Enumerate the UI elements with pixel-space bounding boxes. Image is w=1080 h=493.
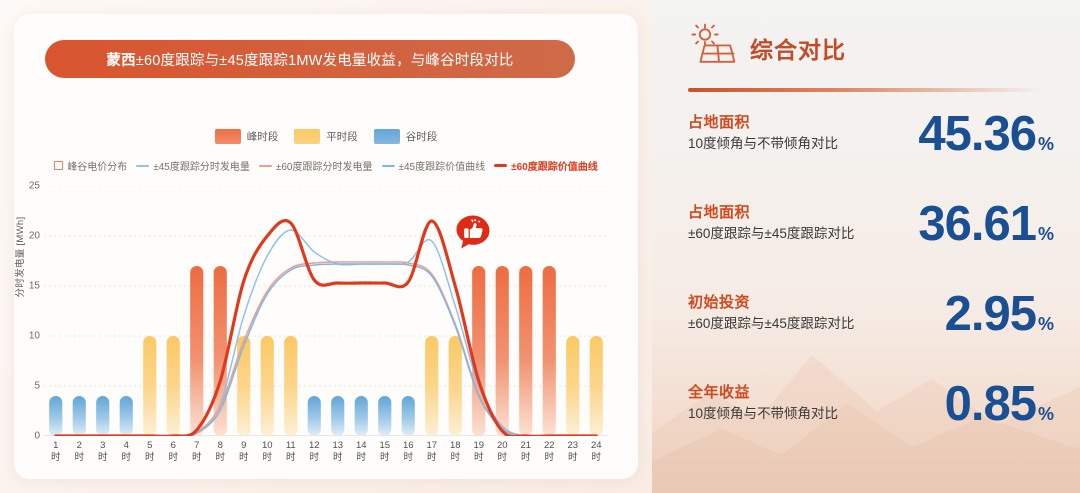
stat-title: 初始投资 xyxy=(688,293,864,313)
series-legend-label: ±60度跟踪分时发电量 xyxy=(276,158,373,173)
x-axis-tick-unit: 时 xyxy=(232,452,256,464)
x-axis-tick: 7时 xyxy=(185,440,209,480)
summary-header: 综合对比 xyxy=(688,22,846,73)
period-legend-item[interactable]: 平时段 xyxy=(294,129,358,144)
stat-text: 初始投资±60度跟踪与±45度跟踪对比 xyxy=(688,288,864,333)
x-axis-tick-unit: 时 xyxy=(373,452,397,464)
thumbs-up-badge-icon xyxy=(452,212,494,254)
series-legend-item[interactable]: ±45度跟踪分时发电量 xyxy=(136,158,250,173)
x-axis-tick: 9时 xyxy=(232,440,256,480)
bar-group xyxy=(49,266,603,436)
x-axis-tick-unit: 时 xyxy=(115,452,139,464)
stat-title: 占地面积 xyxy=(688,203,864,223)
x-axis-tick: 5时 xyxy=(138,440,162,480)
x-axis-tick: 17时 xyxy=(420,440,444,480)
x-axis-tick-number: 10 xyxy=(256,440,280,452)
chart-svg xyxy=(44,186,608,436)
x-axis-tick-unit: 时 xyxy=(303,452,327,464)
x-axis-tick-number: 11 xyxy=(279,440,303,452)
x-axis-tick: 24时 xyxy=(585,440,609,480)
chart-bar[interactable] xyxy=(331,396,344,436)
line-series[interactable] xyxy=(56,262,597,436)
chart-bar[interactable] xyxy=(566,336,579,436)
stat-subtitle: 10度倾角与不带倾角对比 xyxy=(688,404,864,423)
period-legend: 峰时段平时段谷时段 xyxy=(0,129,652,144)
stats-list: 占地面积10度倾角与不带倾角对比45.36%占地面积±60度跟踪与±45度跟踪对… xyxy=(688,108,1058,468)
x-axis-tick-unit: 时 xyxy=(444,452,468,464)
chart-bar[interactable] xyxy=(284,336,297,436)
period-legend-label: 平时段 xyxy=(326,129,358,144)
stat-title: 占地面积 xyxy=(688,113,864,133)
x-axis-tick: 22时 xyxy=(538,440,562,480)
stat-number: 36.61 xyxy=(918,198,1036,250)
chart-panel: 蒙西±60度跟踪与±45度跟踪1MW发电量收益，与峰谷时段对比 峰时段平时段谷时… xyxy=(0,0,652,493)
period-legend-label: 峰时段 xyxy=(247,129,279,144)
stat-value: 2.95% xyxy=(864,288,1058,340)
x-axis-tick-number: 5 xyxy=(138,440,162,452)
chart-bar[interactable] xyxy=(49,396,62,436)
chart-bar[interactable] xyxy=(402,396,415,436)
chart-bar[interactable] xyxy=(519,266,532,436)
series-legend-line-marker xyxy=(382,165,395,167)
x-axis-tick: 1时 xyxy=(44,440,68,480)
x-axis-tick-number: 13 xyxy=(326,440,350,452)
x-axis-tick-unit: 时 xyxy=(514,452,538,464)
stat-subtitle: ±60度跟踪与±45度跟踪对比 xyxy=(688,224,864,243)
stat-number: 2.95 xyxy=(945,288,1036,340)
x-axis-tick: 3时 xyxy=(91,440,115,480)
y-axis-tick: 25 xyxy=(18,181,40,192)
chart-bar[interactable] xyxy=(190,266,203,436)
x-axis-tick: 23时 xyxy=(561,440,585,480)
x-axis-tick: 19时 xyxy=(467,440,491,480)
x-axis-tick-number: 21 xyxy=(514,440,538,452)
x-axis-tick-unit: 时 xyxy=(585,452,609,464)
x-axis-tick-unit: 时 xyxy=(538,452,562,464)
y-axis-tick: 5 xyxy=(18,381,40,392)
x-axis-tick-number: 17 xyxy=(420,440,444,452)
x-axis-tick-unit: 时 xyxy=(561,452,585,464)
series-legend-line-marker xyxy=(136,165,149,167)
chart-bar[interactable] xyxy=(237,336,250,436)
x-axis-tick: 20时 xyxy=(491,440,515,480)
chart-bar[interactable] xyxy=(543,266,556,436)
chart-bar[interactable] xyxy=(472,266,485,436)
chart-title-rest: ±60度跟踪与±45度跟踪1MW发电量收益，与峰谷时段对比 xyxy=(136,49,514,70)
stat-unit: % xyxy=(1038,404,1054,425)
x-axis-tick-unit: 时 xyxy=(350,452,374,464)
chart-bar[interactable] xyxy=(261,336,274,436)
x-axis-tick-number: 4 xyxy=(115,440,139,452)
x-axis-tick-unit: 时 xyxy=(279,452,303,464)
x-axis-tick-number: 3 xyxy=(91,440,115,452)
x-axis-tick: 11时 xyxy=(279,440,303,480)
chart-bar[interactable] xyxy=(378,396,391,436)
stat-title: 全年收益 xyxy=(688,383,864,403)
header-divider xyxy=(688,88,1043,92)
stat-row: 全年收益10度倾角与不带倾角对比0.85% xyxy=(688,378,1058,468)
x-axis-tick-number: 12 xyxy=(303,440,327,452)
stat-number: 0.85 xyxy=(945,378,1036,430)
period-legend-item[interactable]: 谷时段 xyxy=(374,129,438,144)
stat-text: 占地面积10度倾角与不带倾角对比 xyxy=(688,108,864,153)
y-axis-tick: 10 xyxy=(18,331,40,342)
stat-text: 占地面积±60度跟踪与±45度跟踪对比 xyxy=(688,198,864,243)
y-axis-title: 分时发电量 [MWh] xyxy=(12,192,26,322)
x-axis-tick-unit: 时 xyxy=(326,452,350,464)
stat-number: 45.36 xyxy=(918,108,1036,160)
x-axis-tick-unit: 时 xyxy=(256,452,280,464)
series-legend-label: ±45度跟踪分时发电量 xyxy=(153,158,250,173)
x-axis-tick: 13时 xyxy=(326,440,350,480)
x-axis-tick-labels: 1时2时3时4时5时6时7时8时9时10时11时12时13时14时15时16时1… xyxy=(44,440,608,480)
x-axis-tick-unit: 时 xyxy=(44,452,68,464)
x-axis-tick: 12时 xyxy=(303,440,327,480)
stat-value: 36.61% xyxy=(864,198,1058,250)
x-axis-tick: 8时 xyxy=(209,440,233,480)
series-legend-line-marker xyxy=(259,165,272,167)
series-legend-label: ±60度跟踪价值曲线 xyxy=(511,158,598,173)
summary-title: 综合对比 xyxy=(750,31,846,65)
period-legend-swatch xyxy=(294,129,320,144)
x-axis-tick: 14时 xyxy=(350,440,374,480)
x-axis-tick-unit: 时 xyxy=(397,452,421,464)
chart-bar[interactable] xyxy=(120,396,133,436)
stat-unit: % xyxy=(1038,224,1054,245)
y-axis-tick: 0 xyxy=(18,431,40,442)
x-axis-tick: 6时 xyxy=(162,440,186,480)
period-legend-swatch xyxy=(215,129,241,144)
series-legend: 峰谷电价分布±45度跟踪分时发电量±60度跟踪分时发电量±45度跟踪价值曲线±6… xyxy=(0,158,652,173)
x-axis-tick-number: 1 xyxy=(44,440,68,452)
x-axis-tick-unit: 时 xyxy=(91,452,115,464)
stat-value: 45.36% xyxy=(864,108,1058,160)
chart-title-prefix: 蒙西 xyxy=(106,49,135,70)
series-legend-item[interactable]: 峰谷电价分布 xyxy=(54,158,127,173)
stat-unit: % xyxy=(1038,134,1054,155)
x-axis-tick-number: 24 xyxy=(585,440,609,452)
x-axis-tick-number: 7 xyxy=(185,440,209,452)
stat-row: 占地面积±60度跟踪与±45度跟踪对比36.61% xyxy=(688,198,1058,288)
chart-bar[interactable] xyxy=(308,396,321,436)
line-series[interactable] xyxy=(56,230,597,436)
x-axis-tick: 18时 xyxy=(444,440,468,480)
stat-subtitle: ±60度跟踪与±45度跟踪对比 xyxy=(688,314,864,333)
chart-bar[interactable] xyxy=(496,266,509,436)
x-axis-tick-unit: 时 xyxy=(185,452,209,464)
solar-panel-sun-icon xyxy=(688,22,736,73)
series-legend-box-marker xyxy=(54,161,63,170)
x-axis-tick: 15时 xyxy=(373,440,397,480)
chart-bar[interactable] xyxy=(590,336,603,436)
chart-bar[interactable] xyxy=(355,396,368,436)
x-axis-tick-number: 23 xyxy=(561,440,585,452)
line-series[interactable] xyxy=(56,264,597,436)
x-axis-tick-number: 2 xyxy=(68,440,92,452)
x-axis-tick-number: 8 xyxy=(209,440,233,452)
x-axis-tick-unit: 时 xyxy=(467,452,491,464)
x-axis-tick: 16时 xyxy=(397,440,421,480)
x-axis-tick-unit: 时 xyxy=(209,452,233,464)
x-axis-tick-unit: 时 xyxy=(162,452,186,464)
stat-row: 初始投资±60度跟踪与±45度跟踪对比2.95% xyxy=(688,288,1058,378)
line-series-group xyxy=(56,221,597,436)
x-axis-tick-unit: 时 xyxy=(491,452,515,464)
x-axis-tick-number: 18 xyxy=(444,440,468,452)
summary-panel: 综合对比 占地面积10度倾角与不带倾角对比45.36%占地面积±60度跟踪与±4… xyxy=(652,0,1080,493)
chart-title-pill: 蒙西±60度跟踪与±45度跟踪1MW发电量收益，与峰谷时段对比 xyxy=(45,40,575,78)
x-axis-tick-number: 19 xyxy=(467,440,491,452)
x-axis-tick-number: 16 xyxy=(397,440,421,452)
stat-unit: % xyxy=(1038,314,1054,335)
period-legend-swatch xyxy=(374,129,400,144)
x-axis-tick-unit: 时 xyxy=(138,452,162,464)
stat-text: 全年收益10度倾角与不带倾角对比 xyxy=(688,378,864,423)
x-axis-tick-number: 6 xyxy=(162,440,186,452)
series-legend-item[interactable]: ±60度跟踪价值曲线 xyxy=(494,158,598,173)
x-axis-tick-number: 20 xyxy=(491,440,515,452)
x-axis-tick: 10时 xyxy=(256,440,280,480)
x-axis-tick-number: 14 xyxy=(350,440,374,452)
x-axis-tick: 4时 xyxy=(115,440,139,480)
x-axis-tick-unit: 时 xyxy=(420,452,444,464)
series-legend-line-marker xyxy=(494,164,507,167)
chart-bar[interactable] xyxy=(449,336,462,436)
x-axis-tick-unit: 时 xyxy=(68,452,92,464)
stat-value: 0.85% xyxy=(864,378,1058,430)
chart-bar[interactable] xyxy=(73,396,86,436)
chart-bar[interactable] xyxy=(96,396,109,436)
chart-bar[interactable] xyxy=(425,336,438,436)
line-series[interactable] xyxy=(56,221,597,436)
stat-subtitle: 10度倾角与不带倾角对比 xyxy=(688,134,864,153)
plot-area xyxy=(44,186,608,436)
stat-row: 占地面积10度倾角与不带倾角对比45.36% xyxy=(688,108,1058,198)
x-axis-tick-number: 9 xyxy=(232,440,256,452)
period-legend-item[interactable]: 峰时段 xyxy=(215,129,279,144)
period-legend-label: 谷时段 xyxy=(406,129,438,144)
series-legend-label: 峰谷电价分布 xyxy=(67,158,127,173)
chart-bar[interactable] xyxy=(143,336,156,436)
x-axis-tick-number: 22 xyxy=(538,440,562,452)
series-legend-item[interactable]: ±60度跟踪分时发电量 xyxy=(259,158,373,173)
x-axis-tick: 21时 xyxy=(514,440,538,480)
series-legend-label: ±45度跟踪价值曲线 xyxy=(399,158,486,173)
chart-bar[interactable] xyxy=(167,336,180,436)
x-axis-tick-number: 15 xyxy=(373,440,397,452)
series-legend-item[interactable]: ±45度跟踪价值曲线 xyxy=(382,158,486,173)
x-axis-tick: 2时 xyxy=(68,440,92,480)
